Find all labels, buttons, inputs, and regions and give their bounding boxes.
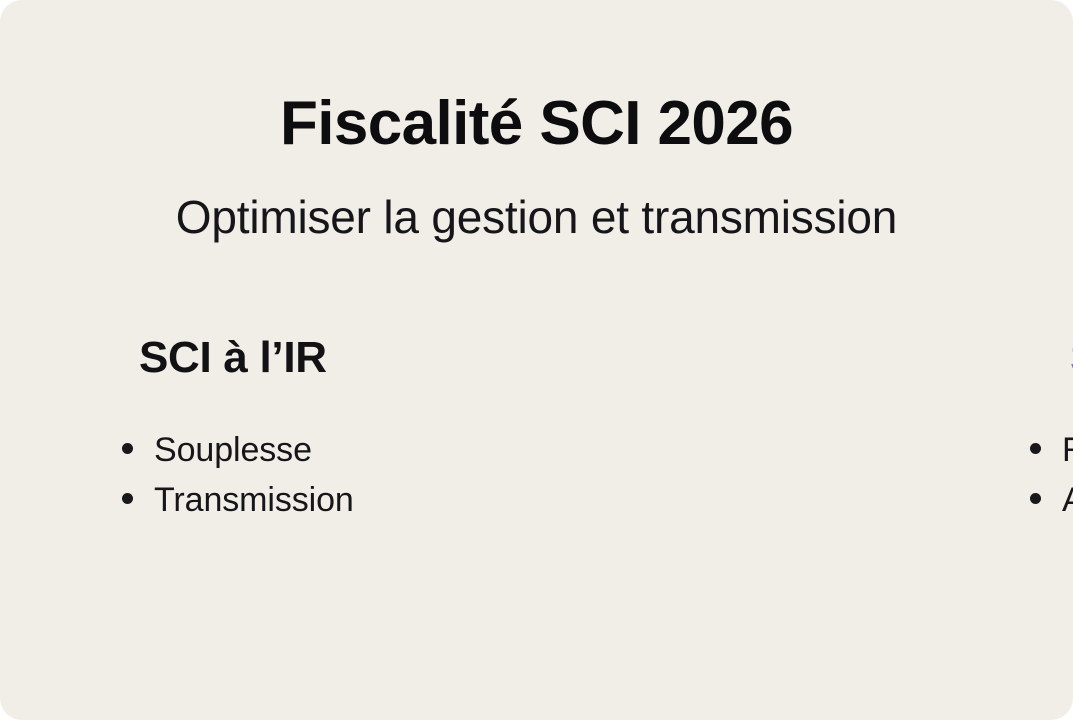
column-sci-is: SCI à l’IS Rentabilité Amortissements — [537, 336, 1073, 517]
list-item-label: Souplesse — [154, 433, 312, 467]
list-item: Amortissements — [1030, 483, 1073, 517]
bullet-list-sci-ir: Souplesse Transmission — [122, 433, 354, 517]
list-item: Transmission — [122, 483, 354, 517]
slide-canvas: Fiscalité SCI 2026 Optimiser la gestion … — [0, 0, 1073, 720]
column-heading-sci-ir: SCI à l’IR — [139, 336, 327, 380]
column-sci-ir: SCI à l’IR Souplesse Transmission — [0, 336, 537, 517]
page-title: Fiscalité SCI 2026 — [0, 93, 1073, 155]
list-item: Souplesse — [122, 433, 354, 467]
list-item-label: Amortissements — [1062, 483, 1073, 517]
list-item: Rentabilité — [1030, 433, 1073, 467]
bullet-dot-icon — [1030, 443, 1041, 454]
list-item-label: Transmission — [154, 483, 354, 517]
bullet-dot-icon — [122, 493, 133, 504]
list-item-label: Rentabilité — [1062, 433, 1073, 467]
bullet-dot-icon — [122, 443, 133, 454]
slide-subtitle: Optimiser la gestion et transmission — [0, 194, 1073, 240]
comparison-columns: SCI à l’IR Souplesse Transmission SCI à … — [0, 336, 1073, 517]
bullet-list-sci-is: Rentabilité Amortissements — [1030, 433, 1073, 517]
bullet-dot-icon — [1030, 493, 1041, 504]
